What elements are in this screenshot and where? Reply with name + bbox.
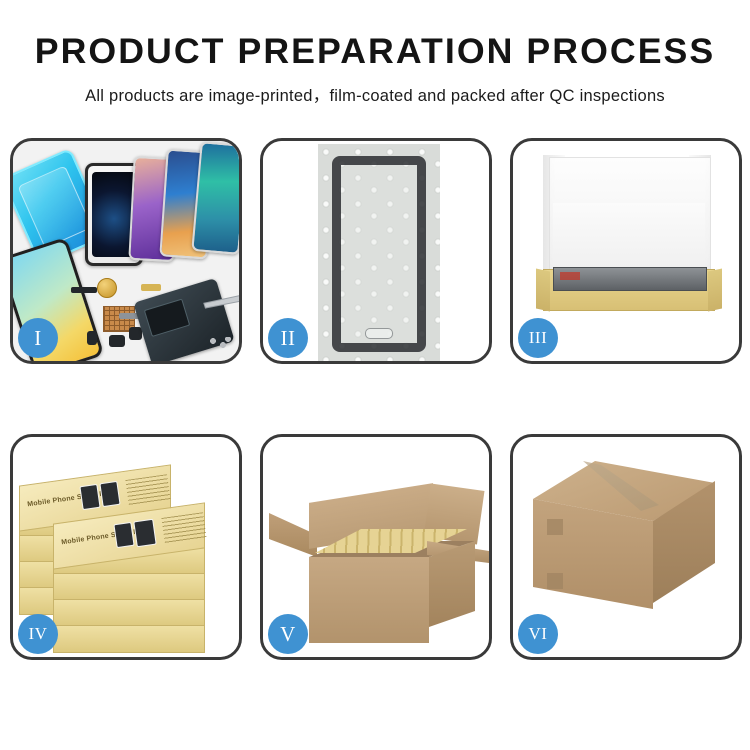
carton-front-face [309, 557, 429, 643]
box-artwork-thumb [133, 519, 156, 548]
header: PRODUCT PREPARATION PROCESS All products… [0, 0, 750, 106]
step-panel-3: III [510, 138, 742, 364]
box-artwork-thumb [113, 522, 134, 548]
step-badge-1: I [18, 318, 58, 358]
step-badge-6: VI [518, 614, 558, 654]
carton-marking-upper [547, 519, 563, 535]
page-title: PRODUCT PREPARATION PROCESS [0, 34, 750, 69]
product-preparation-infographic: PRODUCT PREPARATION PROCESS All products… [0, 0, 750, 750]
stacked-box [53, 599, 205, 627]
page-subtitle: All products are image-printed，film-coat… [0, 82, 750, 106]
box-artwork-thumb [99, 481, 120, 507]
step-panel-2: II [260, 138, 492, 364]
step-panel-6: VI [510, 434, 742, 660]
home-button [365, 328, 393, 339]
step-panel-5: V [260, 434, 492, 660]
carton-marking-lower [547, 573, 563, 589]
packed-screen-in-box [553, 267, 707, 291]
step-panel-4: Mobile Phone Spare Parts Mobile Phone Sp… [10, 434, 242, 660]
copper-coil-part [97, 278, 117, 298]
screws-part [209, 337, 231, 349]
phone-teal [191, 141, 239, 255]
foam-padding [553, 203, 705, 275]
stacked-box [53, 573, 205, 601]
box-artwork-thumb [79, 484, 100, 510]
step-badge-4: IV [18, 614, 58, 654]
connector-part-3 [109, 335, 125, 347]
bubble-wrap [318, 144, 440, 361]
camera-module-part [129, 327, 142, 340]
steps-grid: I II III [10, 138, 740, 686]
stacked-box [53, 625, 205, 653]
connector-part-2 [87, 331, 97, 345]
step-panel-1: I [10, 138, 242, 364]
step-badge-2: II [268, 318, 308, 358]
connector-part-1 [71, 287, 97, 293]
wrapped-screen [332, 156, 426, 352]
step-badge-5: V [268, 614, 308, 654]
step-badge-3: III [518, 318, 558, 358]
flex-cable-part [141, 284, 161, 291]
